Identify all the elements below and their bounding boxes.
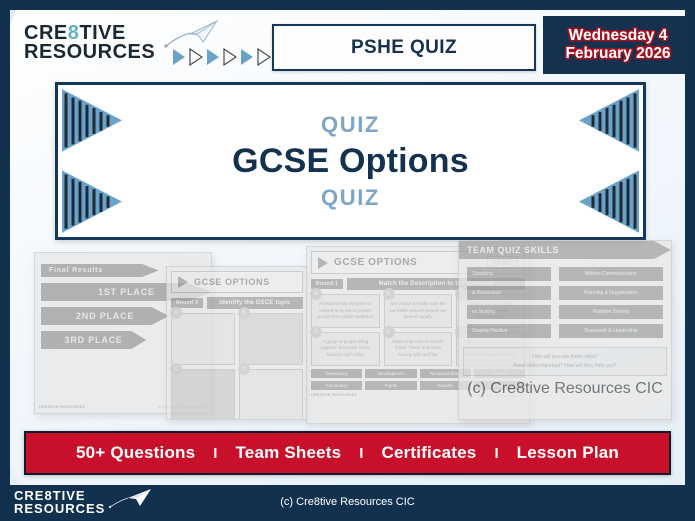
triangle-filled-icon [172, 48, 186, 66]
brand-logo-line2: RESOURCES [24, 43, 155, 62]
preview2-round-bar: Round 3 Identify the GSCE topic [171, 297, 303, 309]
preview2-cell-a: A [171, 313, 235, 365]
slide-header: CRE8TIVE RESOURCES PSHE QUIZ [10, 10, 685, 76]
title-text-group: QUIZ GCSE Options QUIZ [58, 85, 643, 237]
feature-item-questions: 50+ Questions [76, 443, 195, 463]
triangle-outline-icon [189, 48, 203, 66]
feature-separator: I [359, 445, 363, 462]
preview2-title: GCSE OPTIONS [194, 277, 270, 287]
skill-chip: Written Communication [559, 267, 663, 281]
brand-logo: CRE8TIVE RESOURCES [24, 24, 155, 62]
preview1-logo: CRE8TIVE RESOURCES [39, 405, 85, 409]
slide-content-area: CRE8TIVE RESOURCES PSHE QUIZ [10, 10, 685, 485]
preview1-title: Final Results [41, 264, 159, 277]
preview4-left-skills: Speaking & Discussion on Making Staying … [467, 267, 551, 343]
feature-item-certificates: Certificates [381, 443, 476, 463]
preview2-cell-b: B [239, 313, 303, 365]
cell-text: Freedoms that everyone is entitled to by… [312, 295, 379, 327]
play-triangle-icon [318, 257, 328, 269]
feature-bar: 50+ Questions I Team Sheets I Certificat… [24, 431, 671, 475]
preview4-copyright: (c) Cre8tive Resources CIC [459, 380, 671, 398]
slide-canvas: CRE8TIVE RESOURCES PSHE QUIZ [0, 0, 695, 521]
preview4-question-1: How will you use these skills? [468, 353, 662, 362]
preview2-header: GCSE OPTIONS [171, 271, 303, 293]
preview-thumbnail-strip: Final Results 1ST PLACE 2ND PLACE 3RD PL… [10, 238, 685, 428]
date-line2: February 2026 [565, 45, 670, 63]
cell-number-a: A [170, 307, 182, 319]
page-title: GCSE Options [232, 142, 469, 181]
cell-number: D [310, 326, 322, 338]
preview-team-quiz-skills[interactable]: TEAM QUIZ SKILLS Speaking & Discussion o… [458, 240, 672, 420]
preview3-title: GCSE OPTIONS [334, 257, 417, 268]
cell-text: Duties that citizens should follow. Thes… [385, 333, 452, 365]
preview2-grid: A B C D [171, 313, 303, 420]
preview4-right-skills: Written Communication Planning & Organis… [559, 267, 663, 343]
title-footer-word: QUIZ [321, 185, 380, 211]
skill-chip: & Discussion [467, 286, 551, 300]
triangle-filled-icon [206, 48, 220, 66]
slide-footer: CRE8TIVE RESOURCES (c) Cre8tive Resource… [0, 485, 695, 521]
triangle-outline-icon [223, 48, 237, 66]
preview4-question-2: these skills important? How will they he… [468, 362, 662, 371]
date-line1: Wednesday 4 [569, 27, 668, 45]
preview3-cell: EDuties that citizens should follow. The… [384, 332, 453, 366]
preview1-place-2: 2ND PLACE [41, 307, 169, 325]
preview3-cell: BSet of laws to make sure the law battle… [384, 294, 453, 328]
triangle-outline-icon [257, 48, 271, 66]
subject-title-text: PSHE QUIZ [351, 37, 457, 59]
striped-arrows-right-icon [563, 85, 643, 237]
feature-item-team-sheets: Team Sheets [235, 443, 341, 463]
feature-item-lesson-plan: Lesson Plan [517, 443, 619, 463]
skill-chip: Planning & Organisation [559, 286, 663, 300]
feature-separator: I [213, 445, 217, 462]
skill-chip: Teamwork & Leadership [559, 324, 663, 338]
preview3-cell: AFreedoms that everyone is entitled to b… [311, 294, 380, 328]
preview-round-3[interactable]: GCSE OPTIONS Round 3 Identify the GSCE t… [166, 266, 308, 420]
preview2-cell-c: C [171, 369, 235, 420]
preview3-cell: DA group of people living together. Ever… [311, 332, 380, 366]
paper-plane-icon [160, 18, 220, 52]
cell-number-d: D [238, 363, 250, 375]
preview4-title: TEAM QUIZ SKILLS [459, 241, 671, 259]
skill-chip: Speaking [467, 267, 551, 281]
keyword-chip: Community [311, 381, 362, 390]
skill-chip: Problem Solving [559, 305, 663, 319]
cell-number-c: C [170, 363, 182, 375]
cell-number: A [310, 288, 322, 300]
arrow-strip [172, 48, 271, 66]
cell-text: A group of people living together. Every… [312, 333, 379, 365]
skill-chip: Staying Positive [467, 324, 551, 338]
preview2-task: Identify the GSCE topic [207, 297, 303, 309]
triangle-filled-icon [240, 48, 254, 66]
preview4-question-box: How will you use these skills? these ski… [463, 347, 667, 376]
cell-number: B [383, 288, 395, 300]
subject-title-box: PSHE QUIZ [272, 24, 536, 71]
title-eyebrow: QUIZ [321, 112, 380, 138]
skill-chip: on Making [467, 305, 551, 319]
play-triangle-icon [178, 276, 188, 288]
date-badge: Wednesday 4 February 2026 [543, 16, 685, 74]
preview1-place-3: 3RD PLACE [41, 331, 146, 349]
keyword-chip: Development [365, 369, 416, 378]
keyword-chip: Democracy [311, 369, 362, 378]
preview2-cell-d: D [239, 369, 303, 420]
cell-number: E [383, 326, 395, 338]
title-panel: QUIZ GCSE Options QUIZ [55, 82, 646, 240]
cell-text: Set of laws to make sure the law battle … [385, 295, 452, 327]
cell-number-b: B [238, 307, 250, 319]
feature-separator: I [494, 445, 498, 462]
footer-copyright: (c) Cre8tive Resources CIC [0, 496, 695, 508]
keyword-chip: Rights [365, 381, 416, 390]
preview3-logo: CRE8TIVE RESOURCES [311, 393, 357, 397]
